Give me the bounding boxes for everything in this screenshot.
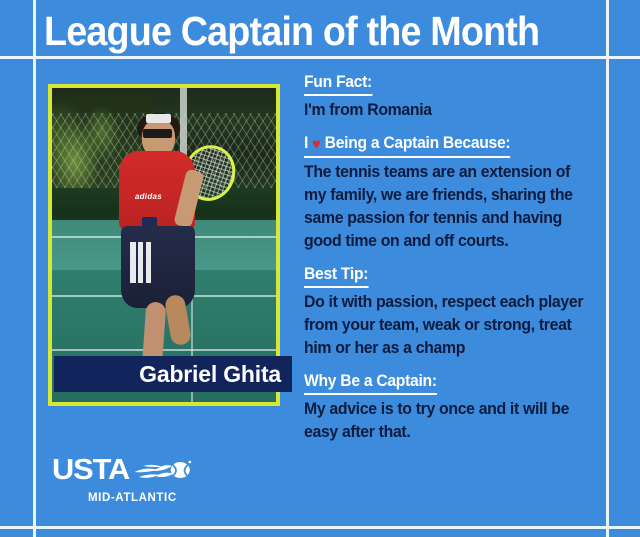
detail-body: The tennis teams are an extension of my …	[304, 161, 594, 253]
poster-canvas: League Captain of the Month adidas	[0, 0, 640, 537]
detail-block-fun-fact: Fun Fact: I'm from Romania	[304, 72, 594, 122]
page-title: League Captain of the Month	[44, 6, 557, 56]
detail-block-being-a-captain: I ♥ Being a Captain Because: The tennis …	[304, 133, 594, 253]
captain-details: Fun Fact: I'm from Romania I ♥ Being a C…	[304, 72, 594, 444]
detail-heading-prefix: I	[304, 134, 312, 152]
detail-body: I'm from Romania	[304, 99, 594, 122]
detail-body: Do it with passion, respect each player …	[304, 291, 594, 360]
detail-body: My advice is to try once and it will be …	[304, 398, 594, 444]
detail-heading: I ♥ Being a Captain Because:	[304, 133, 510, 158]
usta-region: MID-ATLANTIC	[88, 492, 262, 504]
detail-block-best-tip: Best Tip: Do it with passion, respect ea…	[304, 264, 594, 360]
detail-heading: Why Be a Captain:	[304, 371, 437, 395]
frame-line-top	[0, 56, 640, 59]
frame-line-bottom	[0, 526, 640, 529]
frame-line-left	[33, 0, 36, 537]
usta-logo: USTA MID-ATLANTIC	[52, 455, 262, 517]
detail-heading-suffix: Being a Captain Because:	[321, 134, 511, 152]
captain-name: Gabriel Ghita	[139, 363, 281, 386]
captain-photo: adidas	[52, 88, 276, 402]
usta-wordmark: USTA	[52, 455, 129, 485]
captain-nameplate: Gabriel Ghita	[54, 356, 292, 392]
flaming-tennis-ball-icon	[132, 457, 191, 483]
detail-heading: Fun Fact:	[304, 72, 372, 96]
detail-heading: Best Tip:	[304, 264, 368, 288]
detail-block-why-be-a-captain: Why Be a Captain: My advice is to try on…	[304, 371, 594, 444]
frame-line-right	[606, 0, 609, 537]
